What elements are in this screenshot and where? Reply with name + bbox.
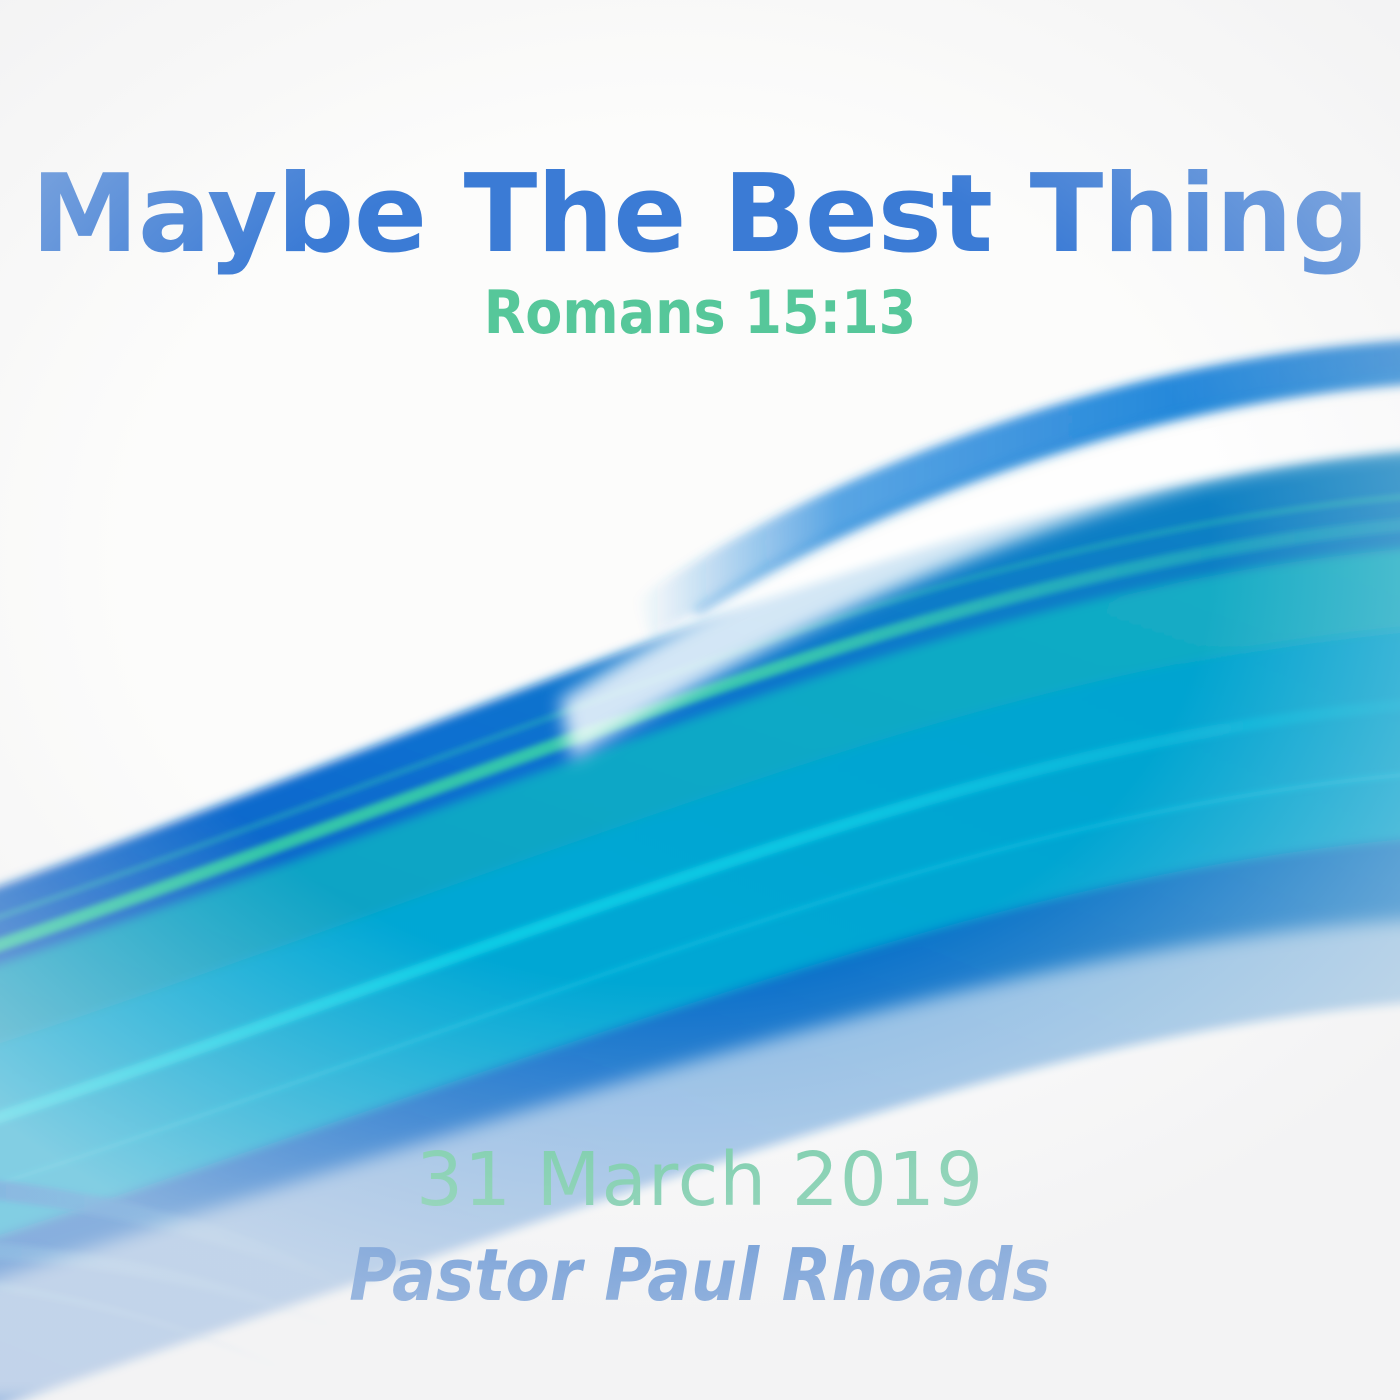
sermon-title: Maybe The Best Thing xyxy=(0,160,1400,270)
scripture-reference: Romans 15:13 xyxy=(0,282,1400,345)
sermon-date: 31 March 2019 xyxy=(0,1142,1400,1220)
sermon-title-slide: Maybe The Best Thing Romans 15:13 31 Mar… xyxy=(0,0,1400,1400)
speaker-name: Pastor Paul Rhoads xyxy=(0,1238,1400,1314)
